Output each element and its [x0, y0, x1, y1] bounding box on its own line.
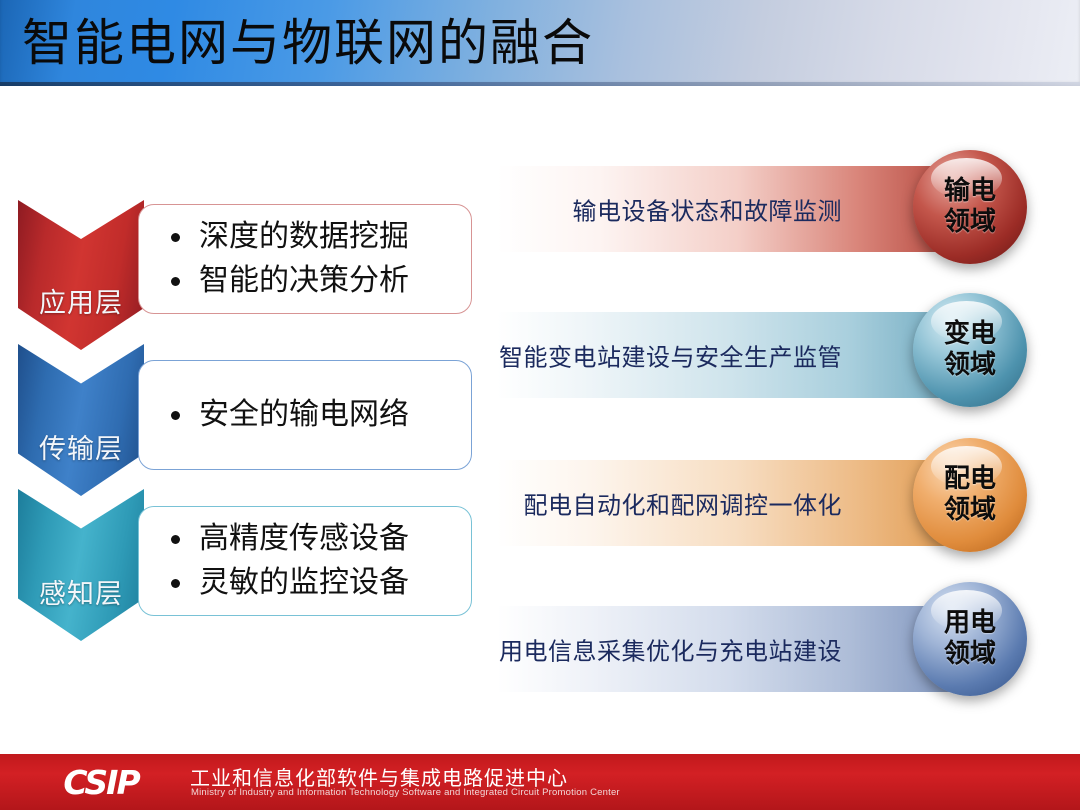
domain-bar-text: 智能变电站建设与安全生产监管 — [499, 338, 842, 373]
domain-bar-consumption[interactable]: 用电信息采集优化与充电站建设 — [497, 606, 960, 692]
layer-label-transport: 传输层 — [18, 427, 144, 466]
sphere-line-1: 输电 — [944, 176, 996, 207]
domain-bar-distribution[interactable]: 配电自动化和配网调控一体化 — [497, 460, 960, 546]
domain-bar-text: 配电自动化和配网调控一体化 — [524, 486, 843, 521]
sphere-line-2: 领域 — [944, 350, 996, 381]
csip-logo: CSIP — [26, 765, 176, 799]
bullet-item: 高精度传感设备 — [165, 517, 461, 561]
sphere-line-1: 用电 — [944, 608, 996, 639]
layer-label-perception: 感知层 — [18, 572, 144, 611]
domain-bar-transmission[interactable]: 输电设备状态和故障监测 — [497, 166, 960, 252]
sphere-line-2: 领域 — [944, 639, 996, 670]
page-title: 智能电网与物联网的融合 — [22, 4, 594, 82]
bullet-list-transport: 安全的输电网络 — [165, 393, 461, 437]
sphere-line-2: 领域 — [944, 495, 996, 526]
domain-sphere-distribution[interactable]: 配电 领域 — [913, 438, 1027, 552]
layer-box-transport: 安全的输电网络 — [138, 360, 472, 470]
sphere-line-2: 领域 — [944, 207, 996, 238]
domain-sphere-label: 输电 领域 — [913, 150, 1027, 264]
domain-sphere-consumption[interactable]: 用电 领域 — [913, 582, 1027, 696]
domain-bar-substation[interactable]: 智能变电站建设与安全生产监管 — [497, 312, 960, 398]
domain-sphere-label: 配电 领域 — [913, 438, 1027, 552]
chevron-shape-transport — [18, 344, 144, 496]
footer-org-en: Ministry of Industry and Information Tec… — [191, 787, 620, 798]
layer-chevron-perception[interactable]: 感知层 — [18, 489, 144, 641]
bullet-list-application: 深度的数据挖掘 智能的决策分析 — [165, 215, 461, 303]
sphere-line-1: 配电 — [944, 464, 996, 495]
layer-box-perception: 高精度传感设备 灵敏的监控设备 — [138, 506, 472, 616]
bullet-list-perception: 高精度传感设备 灵敏的监控设备 — [165, 517, 461, 605]
domain-bar-text: 用电信息采集优化与充电站建设 — [499, 632, 842, 667]
layer-box-application: 深度的数据挖掘 智能的决策分析 — [138, 204, 472, 314]
bullet-item: 智能的决策分析 — [165, 259, 461, 303]
bullet-item: 灵敏的监控设备 — [165, 561, 461, 605]
layer-label-application: 应用层 — [18, 281, 144, 320]
chevron-shape-perception — [18, 489, 144, 641]
footer-bar: CSIP 工业和信息化部软件与集成电路促进中心 Ministry of Indu… — [0, 751, 1080, 810]
domain-sphere-substation[interactable]: 变电 领域 — [913, 293, 1027, 407]
sphere-line-1: 变电 — [944, 319, 996, 350]
domain-bar-text: 输电设备状态和故障监测 — [573, 192, 843, 227]
layer-chevron-application[interactable]: 应用层 — [18, 200, 144, 350]
domain-sphere-label: 变电 领域 — [913, 293, 1027, 407]
domain-sphere-transmission[interactable]: 输电 领域 — [913, 150, 1027, 264]
bullet-item: 安全的输电网络 — [165, 393, 461, 437]
chevron-shape-application — [18, 200, 144, 350]
layer-chevron-transport[interactable]: 传输层 — [18, 344, 144, 496]
bullet-item: 深度的数据挖掘 — [165, 215, 461, 259]
title-bar: 智能电网与物联网的融合 — [0, 0, 1080, 86]
domain-sphere-label: 用电 领域 — [913, 582, 1027, 696]
slide-root: 智能电网与物联网的融合 应用层 深度的数据挖掘 智能的决策分析 传输层 安全的输… — [0, 0, 1080, 810]
